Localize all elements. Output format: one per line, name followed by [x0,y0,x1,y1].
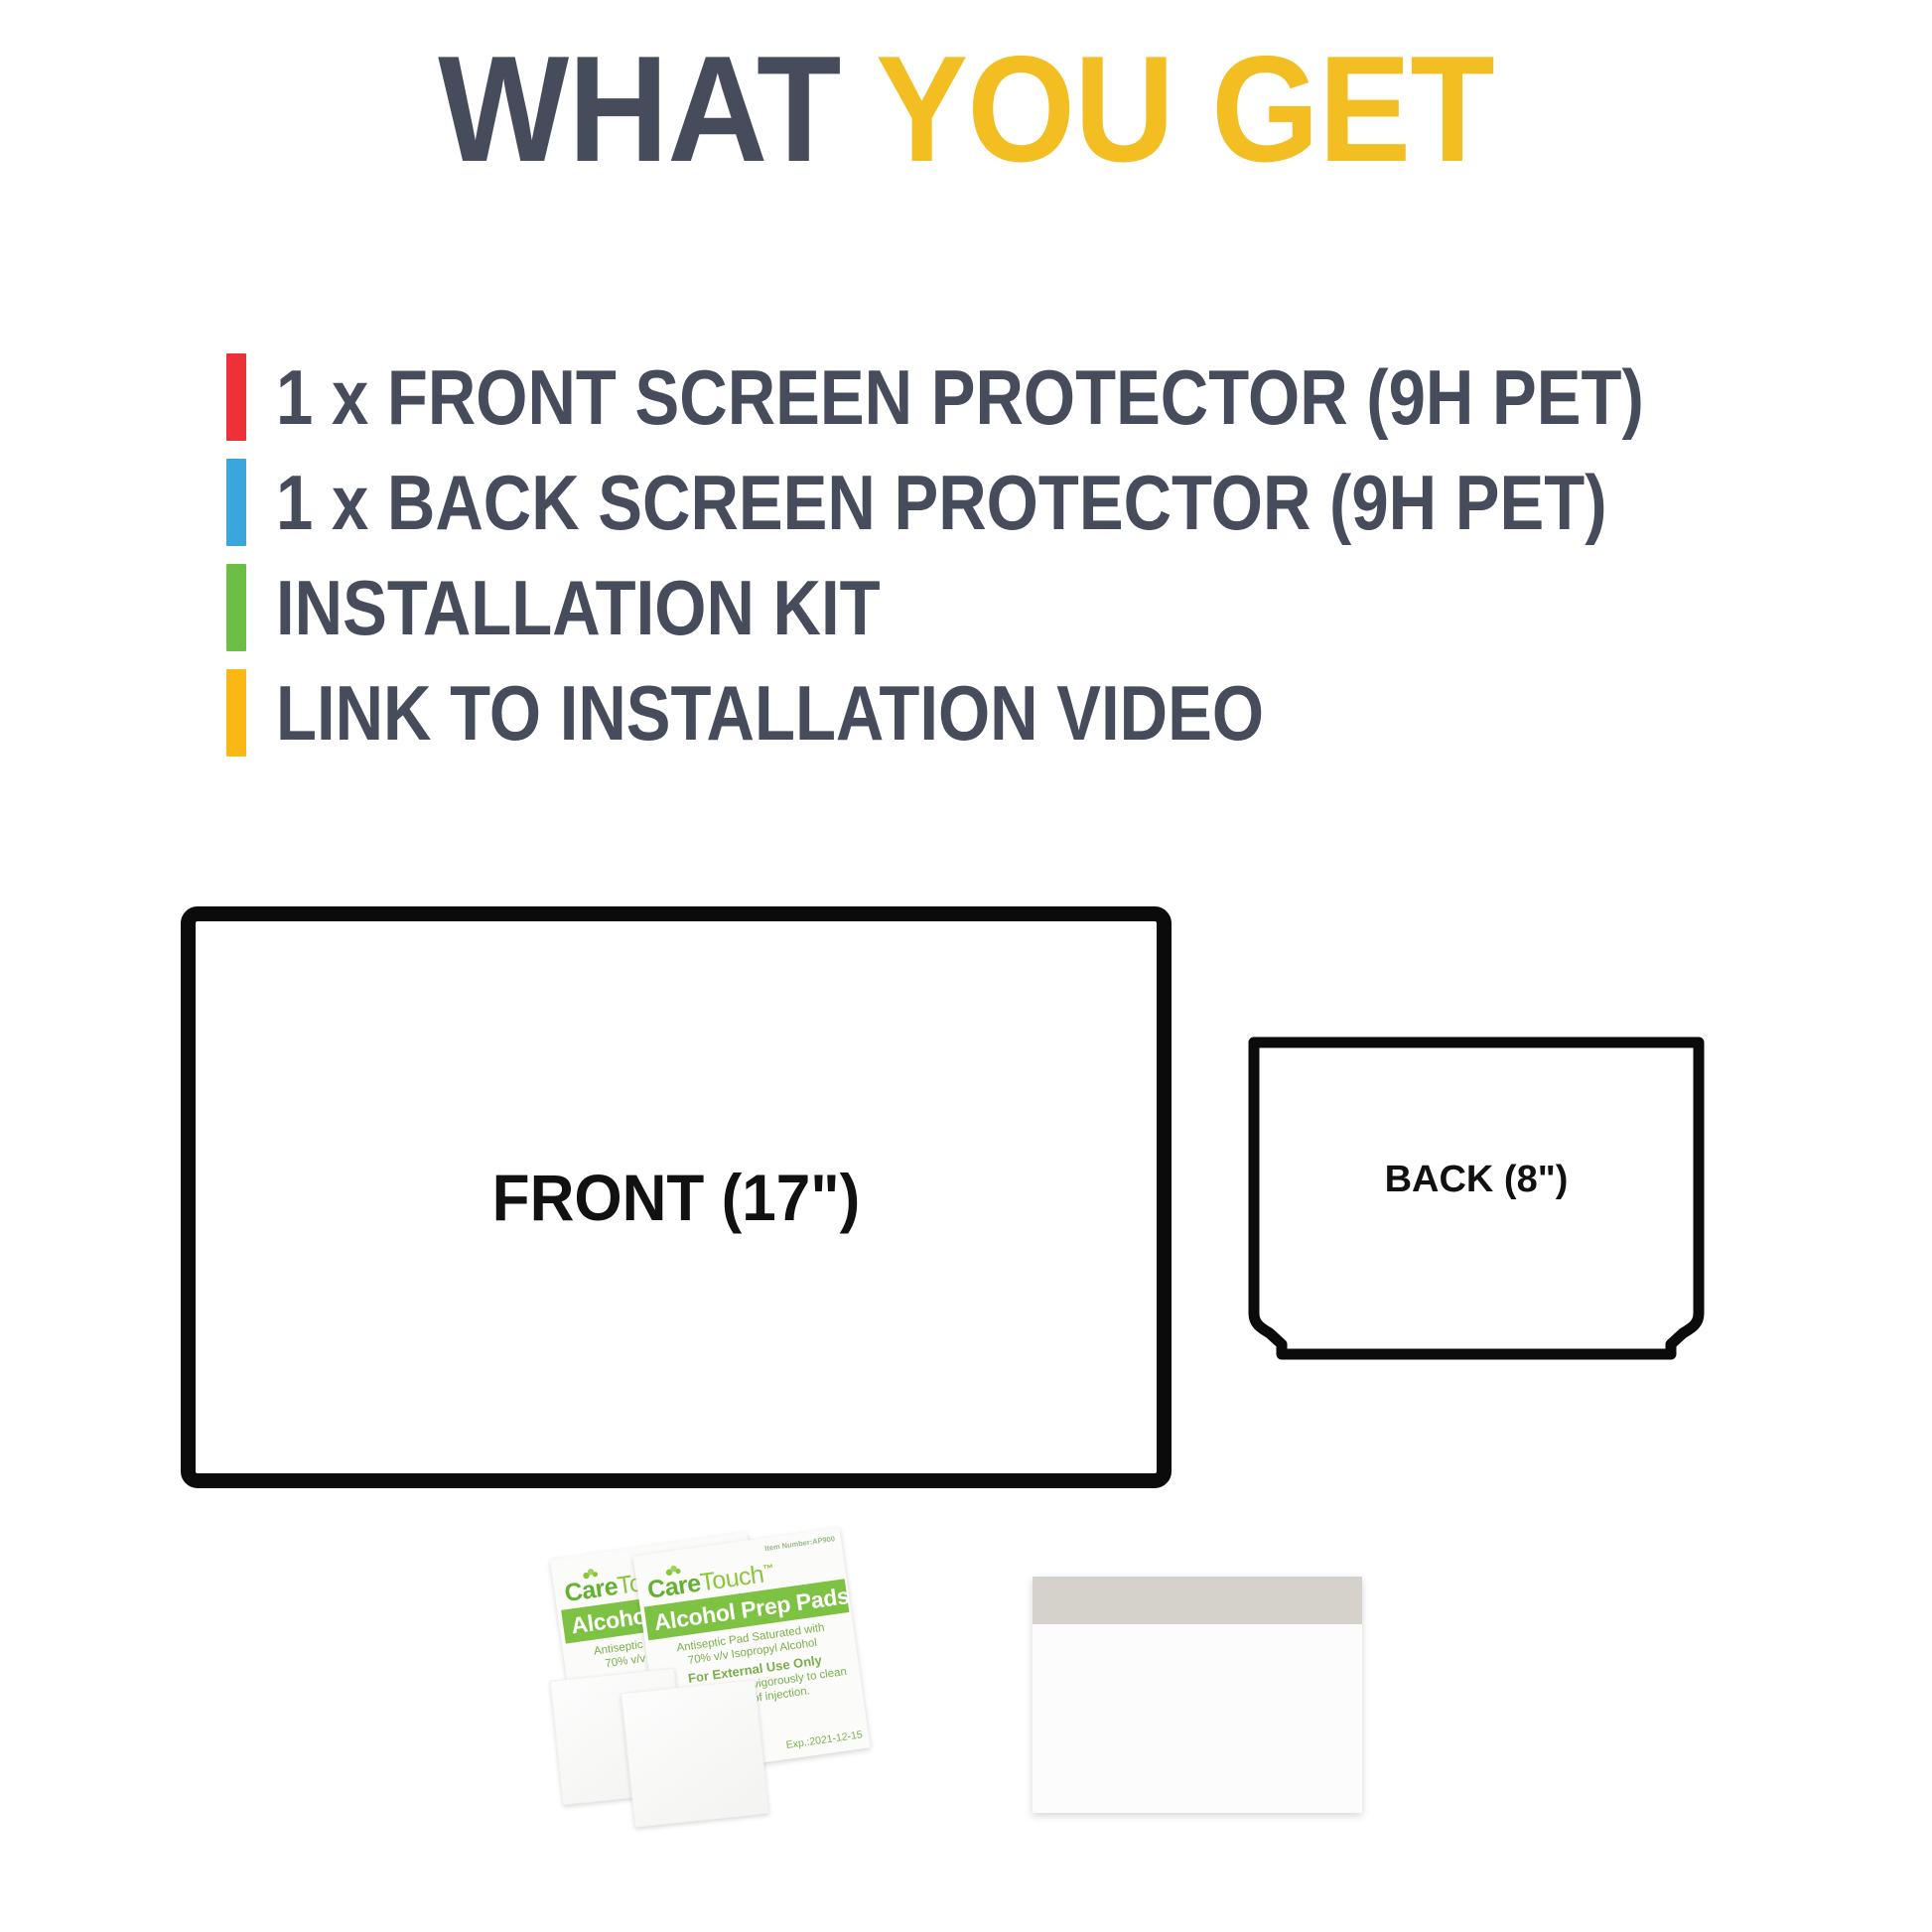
list-item-label: 1 x BACK SCREEN PROTECTOR (9H PET) [276,455,1607,550]
item-number-label: Item Number:AP900 [764,1534,836,1553]
list-item: INSTALLATION KIT [226,560,1716,655]
list-item: 1 x BACK SCREEN PROTECTOR (9H PET) [226,455,1716,550]
bullet-marker-blue [226,459,246,546]
front-screen-protector-outline: FRONT (17") [181,906,1172,1488]
page-title-primary: WHAT [438,25,876,194]
list-item-label: INSTALLATION KIT [276,560,881,655]
page-title-accent: YOU GET [876,25,1494,194]
squeegee-applicator-card [1033,1577,1362,1813]
included-items-list: 1 x FRONT SCREEN PROTECTOR (9H PET) 1 x … [226,349,1716,770]
back-screen-protector-outline: BACK (8") [1242,1031,1711,1366]
list-item-label: LINK TO INSTALLATION VIDEO [276,665,1264,760]
alcohol-pad-square [621,1679,768,1827]
expiry-date: Exp.:2021-12-15 [785,1728,864,1751]
bullet-marker-amber [226,669,246,757]
bullet-marker-green [226,564,246,651]
list-item: LINK TO INSTALLATION VIDEO [226,665,1716,760]
squeegee-felt-strip [1033,1577,1362,1624]
list-item-label: 1 x FRONT SCREEN PROTECTOR (9H PET) [276,349,1644,445]
bullet-marker-red [226,353,246,441]
back-protector-label: BACK (8") [1242,1031,1711,1328]
list-item: 1 x FRONT SCREEN PROTECTOR (9H PET) [226,349,1716,445]
alcohol-prep-pads-group: CareTouch™ Alcohol Prep Pads Antiseptic … [556,1529,983,1896]
page-title: WHAT YOU GET [77,34,1855,185]
squeegee-card-body [1033,1624,1362,1813]
front-protector-label: FRONT (17") [224,921,1128,1473]
trademark-symbol: ™ [762,1563,774,1576]
